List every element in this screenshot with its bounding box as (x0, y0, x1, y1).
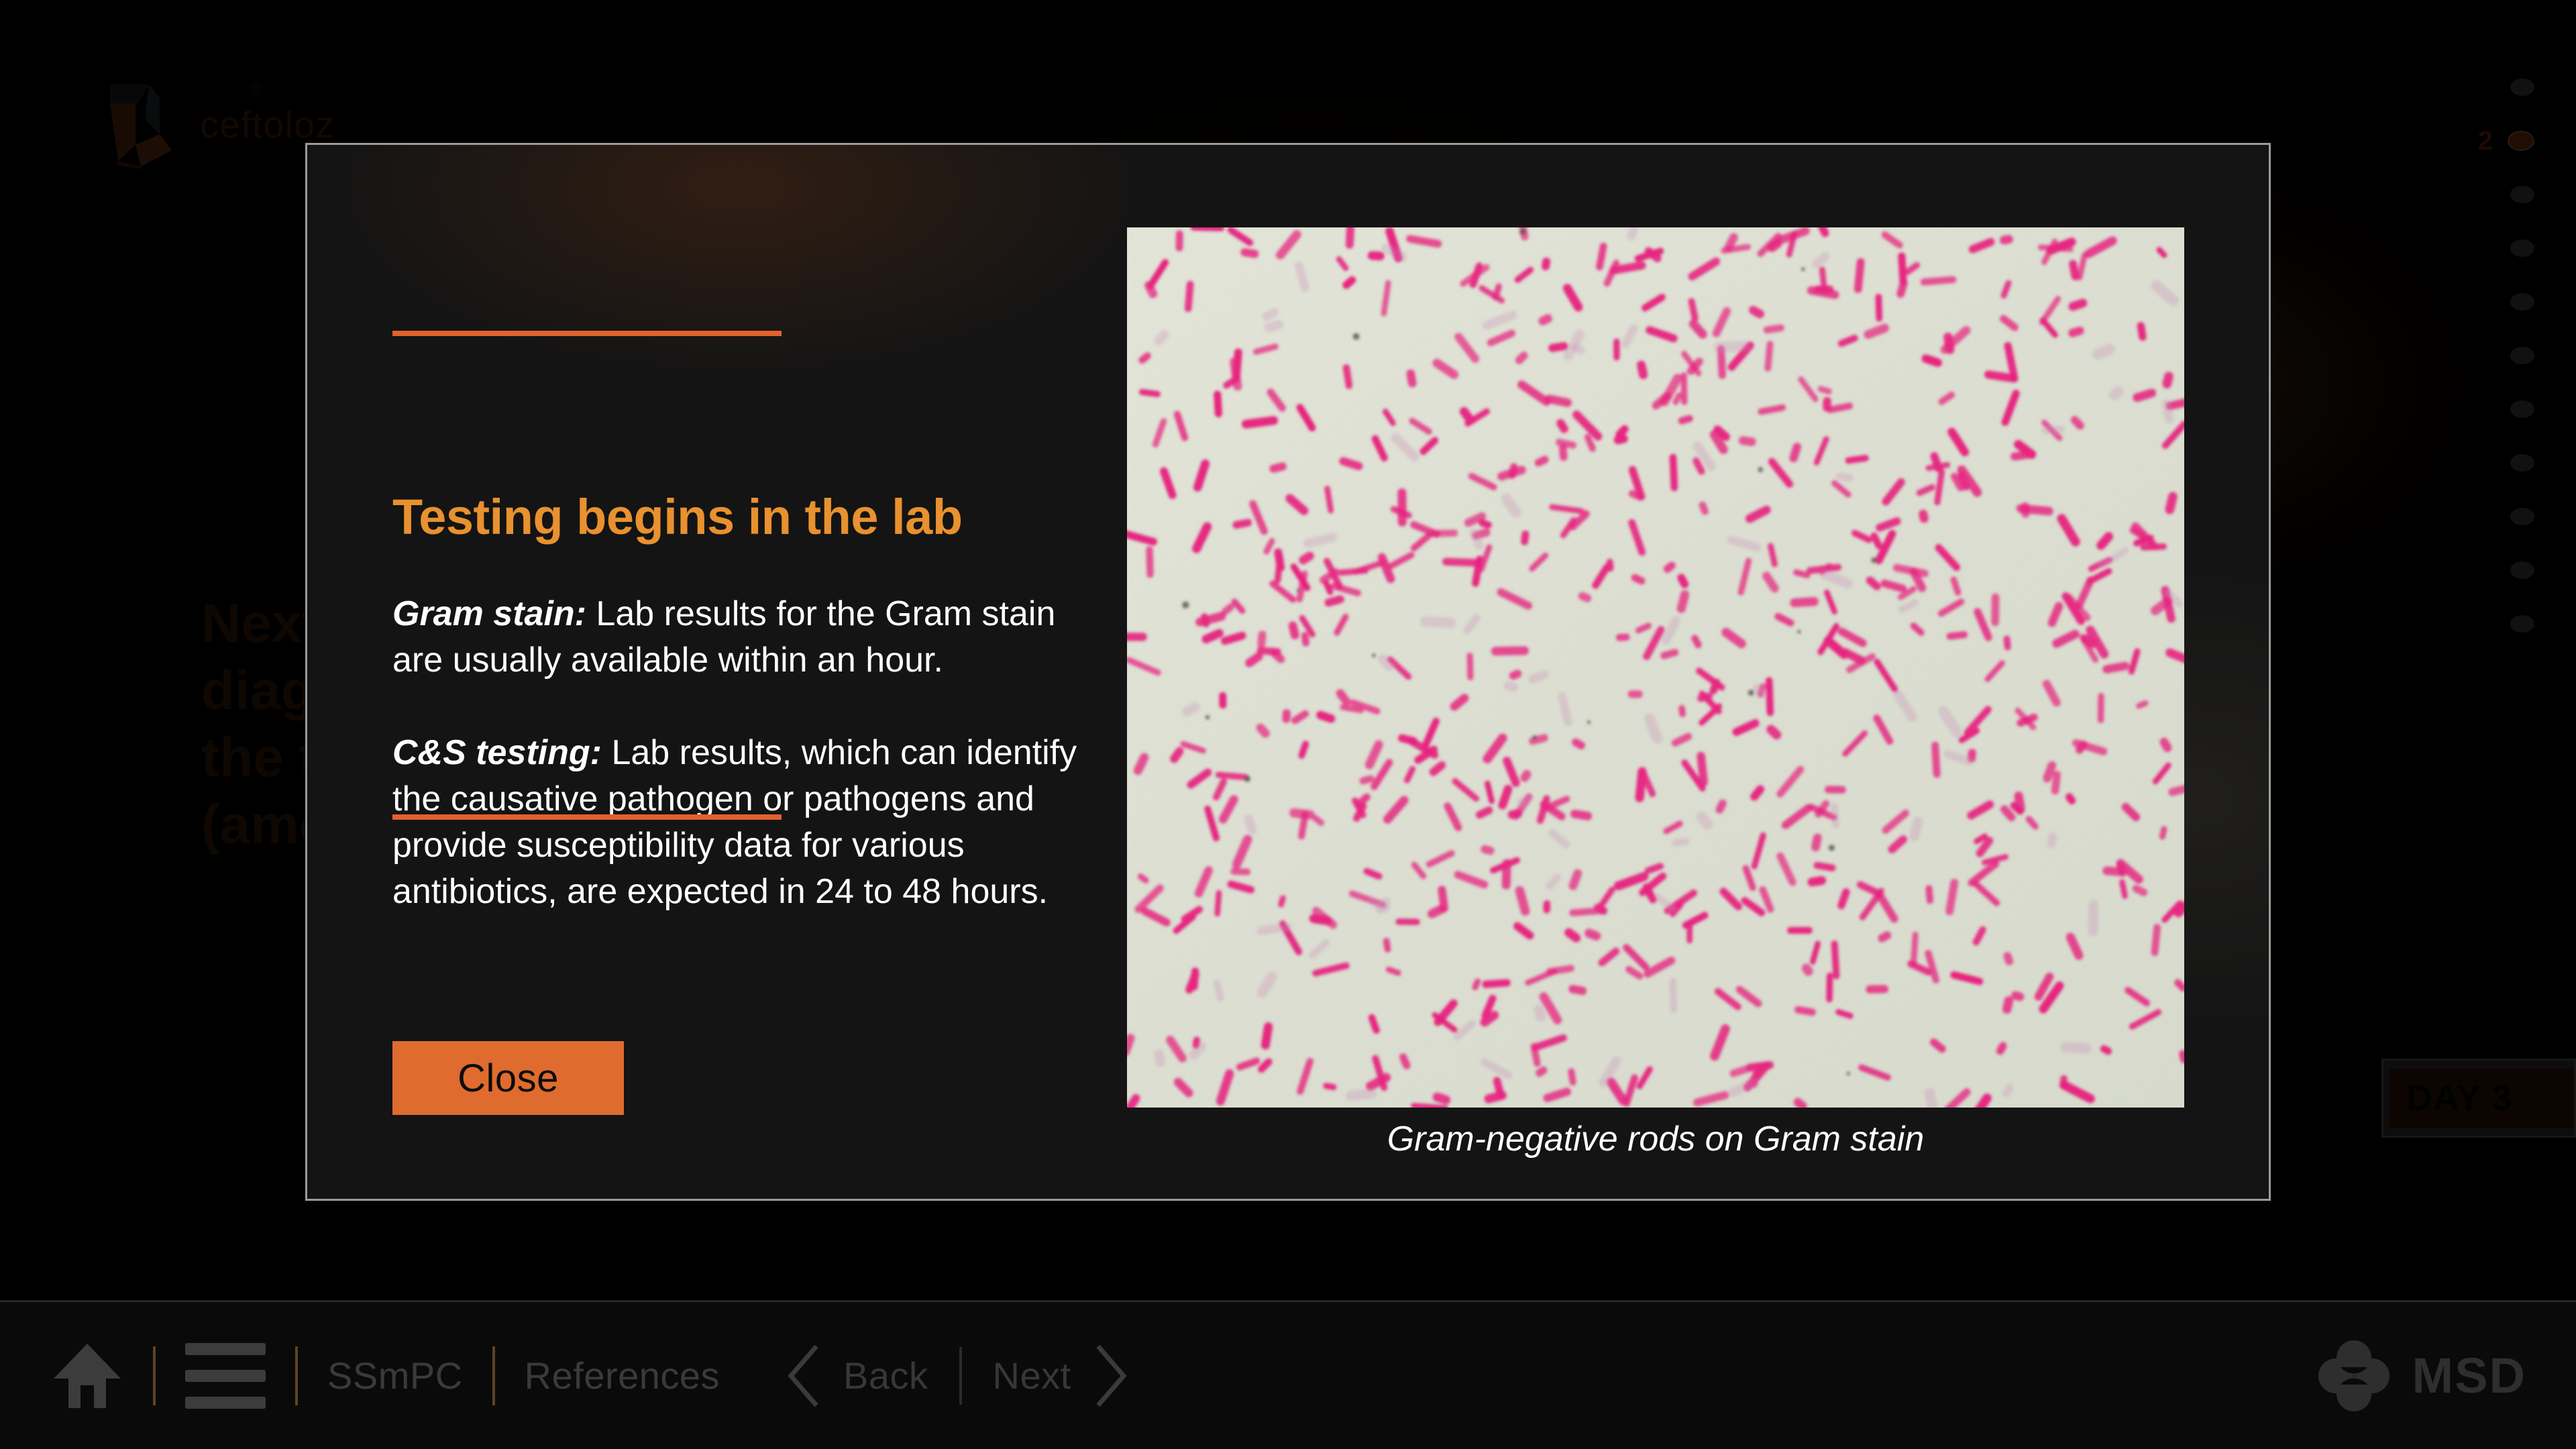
paragraph-lead: C&S testing: (392, 733, 602, 772)
close-button-label: Close (458, 1056, 559, 1101)
modal-heading: Testing begins in the lab (392, 488, 963, 545)
msd-four-circle-logo-icon (2318, 1340, 2390, 1411)
next-button[interactable]: Next (993, 1344, 1130, 1408)
msd-corporate-logo: MSD (2318, 1340, 2526, 1411)
hamburger-menu-icon[interactable] (185, 1343, 266, 1409)
paragraph-lead: Gram stain: (392, 594, 586, 633)
back-button[interactable]: Back (784, 1344, 928, 1408)
paragraph-cs-testing: C&S testing: Lab results, which can iden… (392, 730, 1083, 916)
bottom-navigation-bar: SSmPC References Back Next (0, 1300, 2576, 1449)
nav-divider (959, 1347, 962, 1405)
chevron-right-icon (1091, 1344, 1130, 1408)
gram-stain-micrograph (1127, 227, 2184, 1108)
nav-item-ssmpc[interactable]: SSmPC (327, 1354, 463, 1397)
close-button[interactable]: Close (392, 1041, 624, 1115)
next-label: Next (993, 1354, 1071, 1397)
nav-item-references[interactable]: References (525, 1354, 720, 1397)
lab-testing-modal: Testing begins in the lab Gram stain: La… (305, 143, 2271, 1201)
modal-rule-bottom (392, 814, 782, 820)
msd-wordmark: MSD (2412, 1347, 2526, 1404)
paragraph-gram-stain: Gram stain: Lab results for the Gram sta… (392, 591, 1083, 684)
gram-stain-image (1127, 227, 2184, 1108)
home-icon[interactable] (51, 1341, 123, 1411)
back-label: Back (843, 1354, 928, 1397)
nav-divider (295, 1346, 298, 1405)
chevron-left-icon (784, 1344, 823, 1408)
image-caption: Gram-negative rods on Gram stain (1127, 1119, 2184, 1159)
nav-divider (492, 1346, 495, 1405)
nav-divider (153, 1346, 156, 1405)
modal-rule-top (392, 331, 782, 336)
